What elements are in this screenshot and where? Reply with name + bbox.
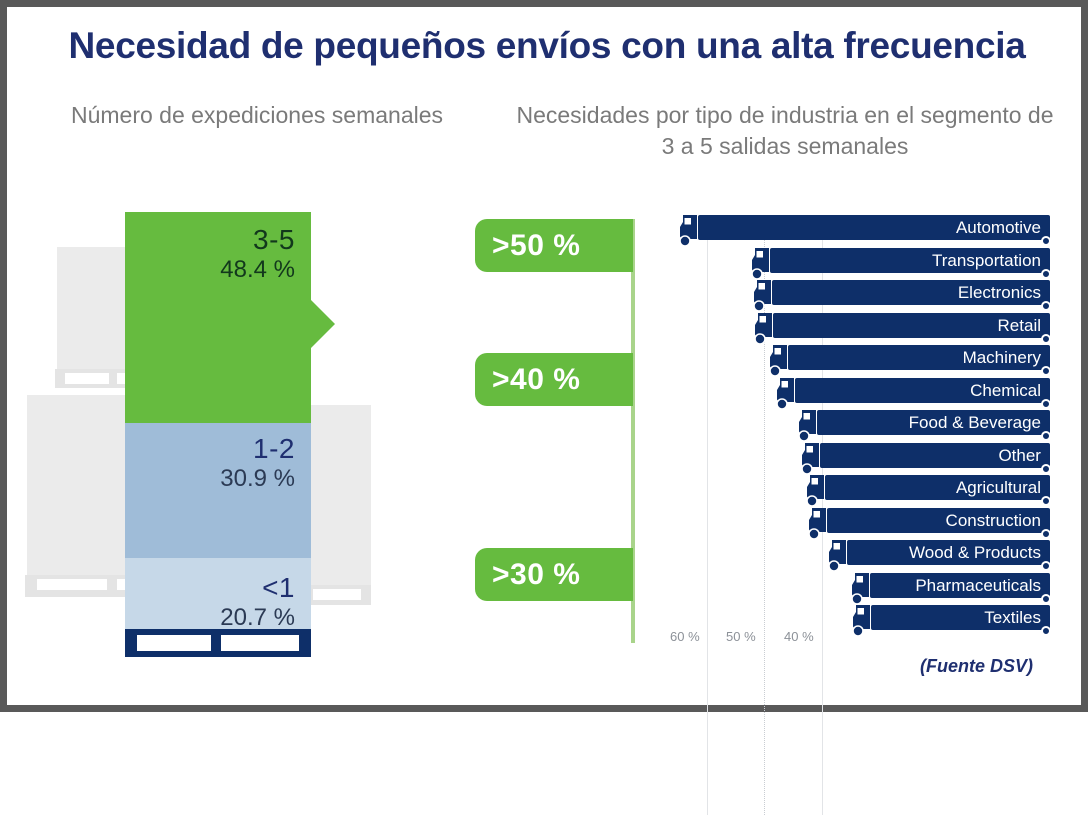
truck-icon <box>808 507 829 540</box>
pallet-slot <box>65 373 109 384</box>
axis-tick-50: 50 % <box>726 629 756 644</box>
pallet-slot <box>313 589 361 600</box>
subtitle-right: Necesidades por tipo de industria en el … <box>507 100 1063 162</box>
truck-icon <box>679 214 700 247</box>
wheel-icon <box>1041 301 1051 311</box>
flag-over-50[interactable]: >50 % <box>475 219 633 272</box>
bar-row[interactable]: Chemical <box>795 378 1050 403</box>
wheel-icon <box>1041 431 1051 441</box>
bar-label: Other <box>998 443 1041 468</box>
stack-segment-3-5[interactable]: 3-5 48.4 % <box>125 212 311 423</box>
stack-segment-value: 30.9 % <box>125 465 295 493</box>
bar-row[interactable]: Wood & Products <box>847 540 1050 565</box>
pallet-slot <box>137 635 211 651</box>
truck-icon <box>753 279 774 312</box>
subtitle-left: Número de expediciones semanales <box>57 100 457 131</box>
page-title: Necesidad de pequeños envíos con una alt… <box>47 25 1047 67</box>
truck-icon <box>798 409 819 442</box>
stack-segment-label: 1-2 <box>125 433 295 465</box>
bar-row[interactable]: Transportation <box>770 248 1050 273</box>
wheel-icon <box>1041 626 1051 636</box>
highlight-arrow-icon <box>311 300 335 348</box>
bar-row[interactable]: Retail <box>773 313 1050 338</box>
bar-label: Automotive <box>956 215 1041 240</box>
wheel-icon <box>1041 561 1051 571</box>
bar-label: Transportation <box>932 248 1041 273</box>
bar-row[interactable]: Food & Beverage <box>817 410 1050 435</box>
stack-segment-label: <1 <box>125 572 295 604</box>
truck-icon <box>776 377 797 410</box>
bar-row[interactable]: Electronics <box>772 280 1050 305</box>
stack-segment-value: 48.4 % <box>125 256 295 284</box>
truck-icon <box>769 344 790 377</box>
stacked-bar-chart: 3-5 48.4 % 1-2 30.9 % <1 20.7 % <box>125 212 311 648</box>
pallet-slot <box>37 579 107 590</box>
bar-label: Chemical <box>970 378 1041 403</box>
axis-tick-40: 40 % <box>784 629 814 644</box>
bar-label: Food & Beverage <box>909 410 1041 435</box>
truck-icon <box>754 312 775 345</box>
wheel-icon <box>1041 334 1051 344</box>
wheel-icon <box>1041 529 1051 539</box>
wheel-icon <box>1041 496 1051 506</box>
bar-row[interactable]: Textiles <box>871 605 1050 630</box>
bar-label: Textiles <box>984 605 1041 630</box>
bar-label: Retail <box>998 313 1041 338</box>
infographic-canvas: Necesidad de pequeños envíos con una alt… <box>7 7 1081 705</box>
wheel-icon <box>1041 594 1051 604</box>
infographic-frame: Necesidad de pequeños envíos con una alt… <box>0 0 1088 712</box>
wheel-icon <box>1041 399 1051 409</box>
stack-segment-label: 3-5 <box>125 224 295 256</box>
bar-label: Pharmaceuticals <box>915 573 1041 598</box>
bar-label: Construction <box>946 508 1041 533</box>
wheel-icon <box>1041 464 1051 474</box>
wheel-icon <box>1041 269 1051 279</box>
axis-tick-60: 60 % <box>670 629 700 644</box>
flag-over-30[interactable]: >30 % <box>475 548 633 601</box>
truck-icon <box>828 539 849 572</box>
pallet-base-icon <box>125 629 311 657</box>
truck-icon <box>751 247 772 280</box>
bar-row[interactable]: Automotive <box>698 215 1050 240</box>
bar-label: Machinery <box>963 345 1041 370</box>
truck-icon <box>851 572 872 605</box>
truck-icon <box>801 442 822 475</box>
wheel-icon <box>1041 236 1051 246</box>
flag-over-40[interactable]: >40 % <box>475 353 633 406</box>
bar-row[interactable]: Pharmaceuticals <box>870 573 1050 598</box>
bar-row[interactable]: Other <box>820 443 1050 468</box>
gridline-60 <box>707 215 708 815</box>
stack-segment-value: 20.7 % <box>125 604 295 632</box>
bar-label: Electronics <box>958 280 1041 305</box>
wheel-icon <box>1041 366 1051 376</box>
truck-icon <box>806 474 827 507</box>
truck-icon <box>852 604 873 637</box>
stack-segment-1-2[interactable]: 1-2 30.9 % <box>125 423 311 558</box>
bar-row[interactable]: Machinery <box>788 345 1050 370</box>
bar-row[interactable]: Construction <box>827 508 1050 533</box>
bar-label: Agricultural <box>956 475 1041 500</box>
bar-label: Wood & Products <box>909 540 1041 565</box>
ghost-box-right <box>307 405 371 585</box>
bar-row[interactable]: Agricultural <box>825 475 1050 500</box>
source-note: (Fuente DSV) <box>920 656 1033 677</box>
industry-bar-chart: 60 % 50 % 40 % Automotive Transportation… <box>662 207 1062 652</box>
ghost-pallet-right <box>307 585 371 605</box>
pallet-slot <box>221 635 299 651</box>
